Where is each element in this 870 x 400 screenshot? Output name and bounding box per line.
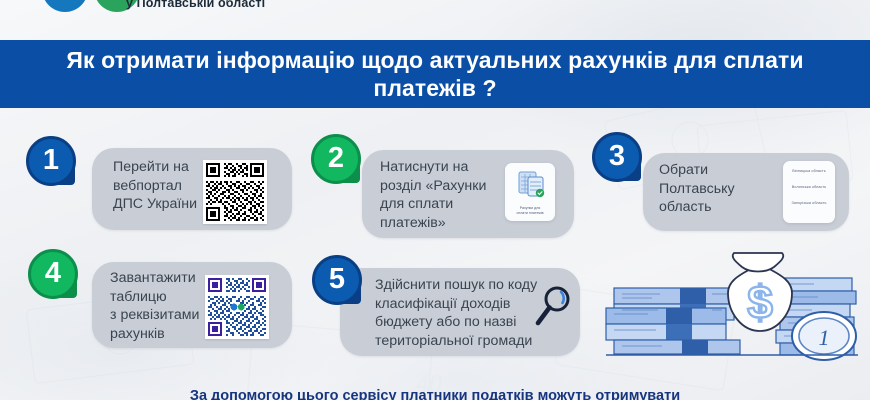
region-item-2[interactable]: Волинська область bbox=[783, 185, 835, 189]
infographic-page: 40 35 20 у Полтавській області Як отрима… bbox=[0, 0, 870, 400]
step-2-label: Натиснути на розділ «Рахунки для сплати … bbox=[380, 158, 502, 233]
footer-note: За допомогою цього сервісу платники пода… bbox=[0, 388, 870, 400]
service-card-icon[interactable]: Рахунки для сплати платежів bbox=[505, 163, 555, 221]
step-3-number-badge: 3 bbox=[592, 132, 642, 182]
badge-disc: 5 bbox=[312, 255, 362, 305]
step-1-number: 1 bbox=[43, 146, 59, 175]
header-bar: у Полтавській області bbox=[0, 0, 870, 40]
banknote-stack-left bbox=[606, 288, 740, 354]
region-item-3[interactable]: Запорізька область bbox=[783, 201, 835, 205]
page-title: Як отримати інформацію щодо актуальних р… bbox=[65, 46, 805, 102]
dollar-symbol: $ bbox=[747, 276, 773, 328]
accounts-document-icon bbox=[505, 163, 555, 203]
step-3-number: 3 bbox=[609, 142, 625, 171]
organization-logo bbox=[42, 0, 138, 12]
step-2-number: 2 bbox=[328, 144, 344, 173]
step-1-number-badge: 1 bbox=[26, 136, 76, 186]
step-4-number-badge: 4 bbox=[28, 249, 78, 299]
circle-blue-icon bbox=[42, 0, 88, 12]
badge-disc: 2 bbox=[311, 134, 361, 184]
step-5-number-badge: 5 bbox=[312, 255, 362, 305]
money-bag-and-banknotes-illustration: $ 1 bbox=[600, 248, 868, 370]
badge-disc: 3 bbox=[592, 132, 642, 182]
qr-code-black[interactable] bbox=[203, 160, 267, 224]
step-3-label: Обрати Полтавську область bbox=[659, 161, 769, 217]
region-list: Вінницька область Волинська область Запо… bbox=[783, 169, 835, 217]
coin-value: 1 bbox=[819, 325, 830, 350]
organization-subtitle: у Полтавській області bbox=[126, 0, 265, 10]
step-4-number: 4 bbox=[45, 259, 61, 288]
magnifier-icon[interactable] bbox=[535, 285, 575, 331]
qr-code-purple[interactable] bbox=[205, 275, 269, 339]
region-item-1[interactable]: Вінницька область bbox=[783, 169, 835, 173]
money-bag: $ bbox=[728, 253, 792, 331]
title-banner: Як отримати інформацію щодо актуальних р… bbox=[0, 40, 870, 108]
step-2-number-badge: 2 bbox=[311, 134, 361, 184]
badge-disc: 1 bbox=[26, 136, 76, 186]
coin: 1 bbox=[792, 312, 856, 360]
region-dropdown-card[interactable]: Вінницька область Волинська область Запо… bbox=[783, 161, 835, 223]
step-5-number: 5 bbox=[329, 265, 345, 294]
service-card-label: Рахунки для сплати платежів bbox=[508, 206, 552, 216]
badge-disc: 4 bbox=[28, 249, 78, 299]
